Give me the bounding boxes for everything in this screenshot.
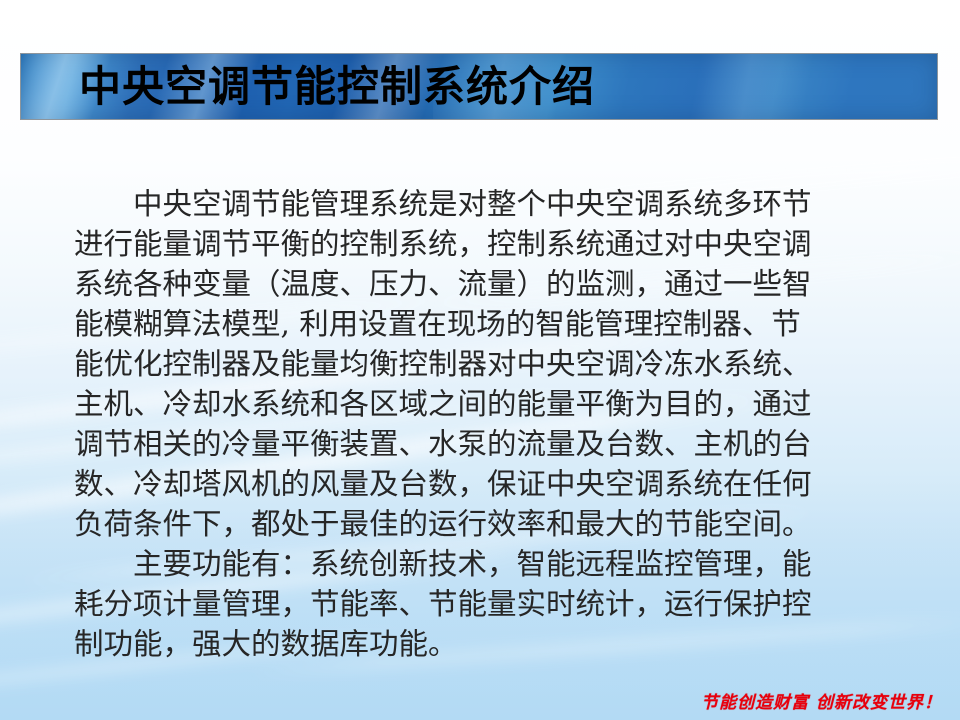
body-line: 调节相关的冷量平衡装置、水泵的流量及台数、主机的台 — [74, 424, 914, 464]
body-line: 制功能，强大的数据库功能。 — [74, 624, 914, 664]
body-line: 能模糊算法模型, 利用设置在现场的智能管理控制器、节 — [74, 304, 914, 344]
body-line: 主要功能有：系统创新技术，智能远程监控管理，能 — [74, 544, 914, 584]
page-title: 中央空调节能控制系统介绍 — [79, 66, 595, 108]
body-line: 数、冷却塔风机的风量及台数，保证中央空调系统在任何 — [74, 464, 914, 504]
title-banner: 中央空调节能控制系统介绍 — [20, 53, 938, 120]
body-text-block: 中央空调节能管理系统是对整个中央空调系统多环节 进行能量调节平衡的控制系统，控制… — [74, 184, 914, 664]
body-line: 能优化控制器及能量均衡控制器对中央空调冷冻水系统、 — [74, 344, 914, 384]
body-line: 耗分项计量管理，节能率、节能量实时统计，运行保护控 — [74, 584, 914, 624]
body-line: 中央空调节能管理系统是对整个中央空调系统多环节 — [74, 184, 914, 224]
footer-slogan: 节能创造财富 创新改变世界！ — [0, 688, 960, 713]
body-line: 主机、冷却水系统和各区域之间的能量平衡为目的，通过 — [74, 384, 914, 424]
slide-canvas: 中央空调节能控制系统介绍 中央空调节能管理系统是对整个中央空调系统多环节 进行能… — [0, 0, 960, 720]
body-line: 系统各种变量（温度、压力、流量）的监测，通过一些智 — [74, 264, 914, 304]
body-line: 进行能量调节平衡的控制系统，控制系统通过对中央空调 — [74, 224, 914, 264]
body-line: 负荷条件下，都处于最佳的运行效率和最大的节能空间。 — [74, 504, 914, 544]
